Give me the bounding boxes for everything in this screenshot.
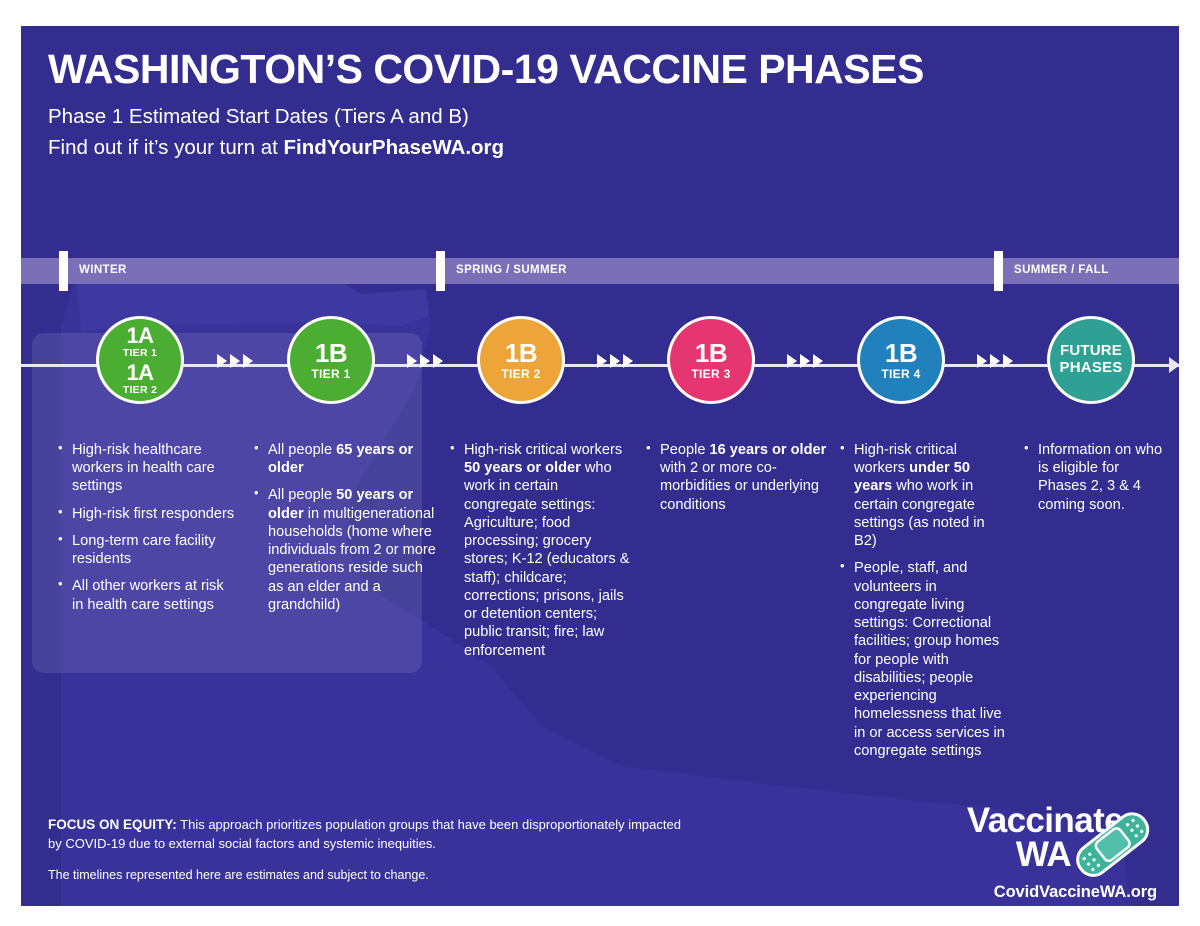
chevron-group-2 xyxy=(597,354,633,368)
phase-circle-future-phases[interactable]: FUTUREPHASES xyxy=(1047,316,1135,404)
phase-tier-label: TIER 4 xyxy=(881,368,920,380)
poster-header: WASHINGTON’S COVID-19 VACCINE PHASES Pha… xyxy=(48,48,1148,160)
phase-label-future: FUTUREPHASES xyxy=(1060,343,1123,377)
chevron-right-icon xyxy=(800,354,810,368)
bullet-column-phase-1b-tier2: High-risk critical workers 50 years or o… xyxy=(449,441,634,669)
timeline-disclaimer: The timelines represented here are estim… xyxy=(48,868,688,882)
phase-tier-label: TIER 2 xyxy=(501,368,540,380)
bullet-column-phase-1a: High-risk healthcare workers in health c… xyxy=(57,441,237,623)
logo-url[interactable]: CovidVaccineWA.org xyxy=(917,883,1157,902)
phase-number: 1B xyxy=(505,340,537,366)
season-label-winter: WINTER xyxy=(79,264,127,276)
logo-wordmark: Vaccinate WA xyxy=(917,804,1157,873)
list-item: High-risk critical workers 50 years or o… xyxy=(449,441,634,660)
chevron-group-4 xyxy=(977,354,1013,368)
timeline-axis-arrow-icon xyxy=(1169,357,1179,373)
page-title: WASHINGTON’S COVID-19 VACCINE PHASES xyxy=(48,48,1148,91)
poster-subtitle: Phase 1 Estimated Start Dates (Tiers A a… xyxy=(48,104,1148,130)
list-item: High-risk critical workers under 50 year… xyxy=(839,441,1011,550)
bandage-icon xyxy=(1067,812,1159,878)
poster-cta: Find out if it’s your turn at FindYourPh… xyxy=(48,135,1148,161)
phase-number: 1B xyxy=(695,340,727,366)
chevron-right-icon xyxy=(597,354,607,368)
chevron-right-icon xyxy=(407,354,417,368)
season-label-summer-fall: SUMMER / FALL xyxy=(1014,264,1109,276)
phase-circle-phase-1b-tier3[interactable]: 1BTIER 3 xyxy=(667,316,755,404)
phase-number: 1B xyxy=(315,340,347,366)
equity-note: FOCUS ON EQUITY: This approach prioritiz… xyxy=(48,815,688,854)
season-tick-2 xyxy=(994,251,1003,291)
chevron-right-icon xyxy=(217,354,227,368)
phase-circle-phase-1a[interactable]: 1ATIER 11ATIER 2 xyxy=(96,316,184,404)
season-label-spring-summer: SPRING / SUMMER xyxy=(456,264,567,276)
chevron-right-icon xyxy=(787,354,797,368)
phase-number: 1B xyxy=(885,340,917,366)
list-item: People, staff, and volunteers in congreg… xyxy=(839,559,1011,760)
list-item: All other workers at risk in health care… xyxy=(57,577,237,613)
chevron-right-icon xyxy=(243,354,253,368)
cta-link[interactable]: FindYourPhaseWA.org xyxy=(283,136,504,159)
phase-circle-phase-1b-tier4[interactable]: 1BTIER 4 xyxy=(857,316,945,404)
chevron-group-1 xyxy=(407,354,443,368)
vaccinate-wa-logo[interactable]: Vaccinate WA CovidVaccineWA.org xyxy=(917,804,1157,902)
cta-prefix: Find out if it’s your turn at xyxy=(48,136,283,159)
list-item: All people 65 years or older xyxy=(253,441,438,477)
phase-circle-phase-1b-tier2[interactable]: 1BTIER 2 xyxy=(477,316,565,404)
chevron-right-icon xyxy=(420,354,430,368)
season-tick-0 xyxy=(59,251,68,291)
list-item: Long-term care facility residents xyxy=(57,532,237,568)
phase-number: 1A xyxy=(126,362,153,384)
bullet-column-phase-1b-tier3: People 16 years or older with 2 or more … xyxy=(645,441,827,523)
list-item: Information on who is eligible for Phase… xyxy=(1023,441,1163,514)
phase-tier-label: TIER 3 xyxy=(691,368,730,380)
phase-circle-phase-1b-tier1[interactable]: 1BTIER 1 xyxy=(287,316,375,404)
phase-tier-label: TIER 1 xyxy=(123,348,157,359)
chevron-group-3 xyxy=(787,354,823,368)
chevron-right-icon xyxy=(433,354,443,368)
chevron-right-icon xyxy=(1003,354,1013,368)
chevron-right-icon xyxy=(813,354,823,368)
equity-label: FOCUS ON EQUITY: xyxy=(48,817,177,832)
chevron-right-icon xyxy=(230,354,240,368)
list-item: High-risk first responders xyxy=(57,505,237,523)
season-tick-1 xyxy=(436,251,445,291)
list-item: High-risk healthcare workers in health c… xyxy=(57,441,237,496)
infographic-poster: WASHINGTON’S COVID-19 VACCINE PHASES Pha… xyxy=(21,26,1179,906)
bullet-column-phase-1b-tier1: All people 65 years or olderAll people 5… xyxy=(253,441,438,623)
season-band: WINTERSPRING / SUMMERSUMMER / FALL xyxy=(21,258,1179,284)
chevron-right-icon xyxy=(990,354,1000,368)
chevron-right-icon xyxy=(610,354,620,368)
phase-number: 1A xyxy=(126,325,153,347)
phase-tier-label: TIER 2 xyxy=(123,385,157,396)
chevron-group-0 xyxy=(217,354,253,368)
list-item: All people 50 years or older in multigen… xyxy=(253,486,438,614)
timeline: 1ATIER 11ATIER 21BTIER 11BTIER 21BTIER 3… xyxy=(21,316,1179,446)
chevron-right-icon xyxy=(977,354,987,368)
phase-tier-label: TIER 1 xyxy=(311,368,350,380)
bullet-column-phase-1b-tier4: High-risk critical workers under 50 year… xyxy=(839,441,1011,769)
list-item: People 16 years or older with 2 or more … xyxy=(645,441,827,514)
bullet-column-future-phases: Information on who is eligible for Phase… xyxy=(1023,441,1163,523)
chevron-right-icon xyxy=(623,354,633,368)
